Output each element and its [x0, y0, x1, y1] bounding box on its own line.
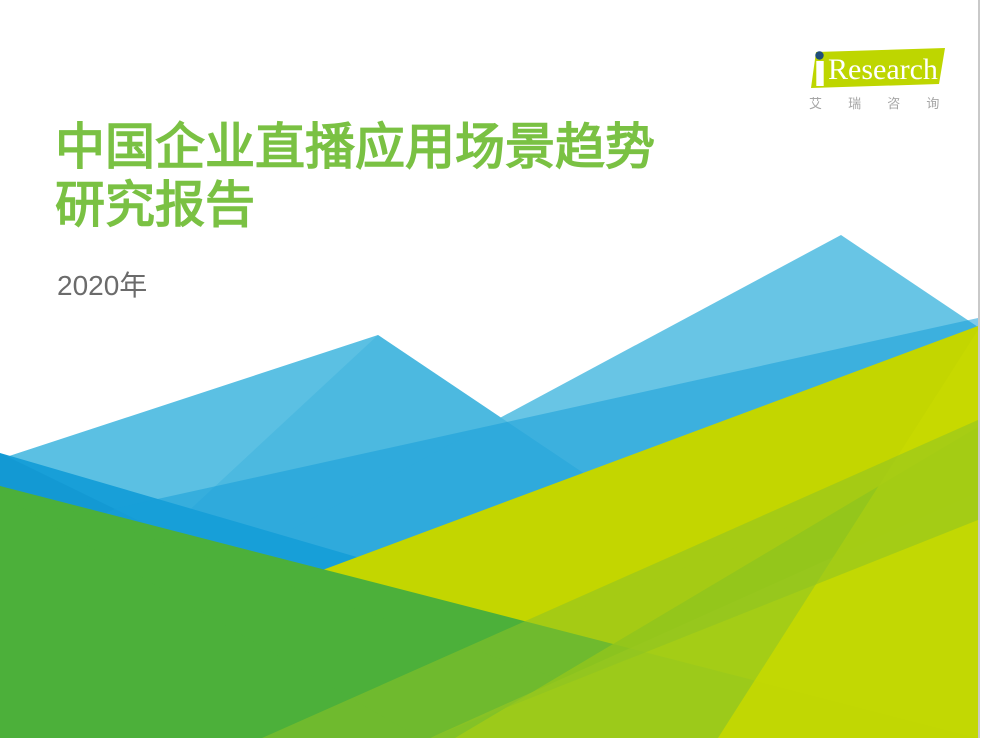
iresearch-logo-mark: Research — [806, 46, 946, 91]
page-title: 中国企业直播应用场景趋势 研究报告 — [55, 118, 815, 234]
page-subtitle-year: 2020年 — [57, 269, 147, 303]
logo-wordmark-text: Research — [828, 53, 938, 86]
iresearch-chinese-name: 艾 瑞 咨 询 — [809, 93, 945, 112]
page-right-border-rule — [978, 0, 980, 738]
page-right-gutter — [978, 0, 991, 738]
iresearch-wordmark-icon: Research — [806, 46, 946, 91]
logo-i-stem-shape — [816, 61, 823, 86]
report-cover-page: Research 艾 瑞 咨 询 中国企业直播应用场景趋势 研究报告 2020年 — [0, 0, 991, 738]
slide-canvas: Research 艾 瑞 咨 询 中国企业直播应用场景趋势 研究报告 2020年 — [0, 0, 978, 738]
page-title-line-2: 研究报告 — [55, 176, 815, 234]
logo-i-dot-icon — [815, 51, 823, 59]
iresearch-logo: Research 艾 瑞 咨 询 — [806, 46, 946, 118]
page-title-line-1: 中国企业直播应用场景趋势 — [55, 118, 815, 176]
